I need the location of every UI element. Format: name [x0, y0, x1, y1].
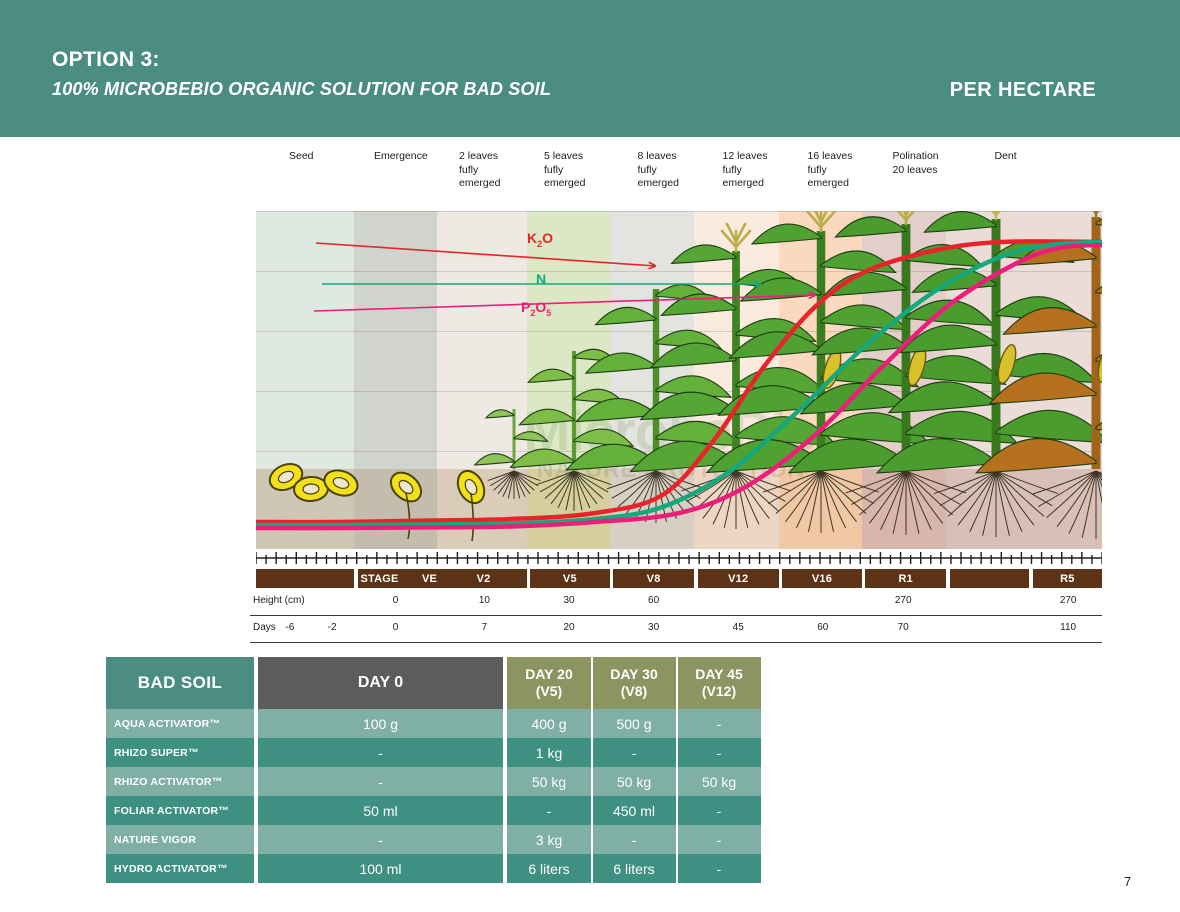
cell-day30: 500 g	[592, 709, 676, 738]
days-value: 45	[724, 622, 752, 633]
height-value: 270	[1054, 595, 1082, 606]
height-value: 270	[889, 595, 917, 606]
stage-cell-empty	[256, 569, 354, 588]
cell-day45: -	[677, 738, 761, 767]
cell-day20: 6 liters	[507, 854, 591, 883]
days-value: 7	[470, 622, 498, 633]
nutrient-curves	[256, 211, 1102, 549]
cell-day20: 1 kg	[507, 738, 591, 767]
page-title: OPTION 3:	[52, 48, 160, 72]
height-row-label: Height (cm)	[253, 595, 305, 606]
days-value: -2	[318, 622, 346, 633]
stage-captions: SeedEmergence2 leavesfuflyemerged5 leave…	[255, 150, 1105, 205]
product-name: RHIZO SUPER™	[106, 738, 254, 767]
cell-day0: 50 ml	[258, 796, 503, 825]
cell-day45: -	[677, 854, 761, 883]
cell-day20: 3 kg	[507, 825, 591, 854]
cell-day45: -	[677, 796, 761, 825]
col-title: DAY 45	[695, 666, 742, 683]
cell-day30: 450 ml	[592, 796, 676, 825]
days-value: 70	[889, 622, 917, 633]
height-days-block: Height (cm) 0103060270270 Days -6-207203…	[250, 589, 1102, 643]
annotation-arrow	[314, 295, 816, 311]
cell-day30: -	[592, 738, 676, 767]
column-header-day20: DAY 20(V5)	[507, 657, 591, 709]
per-hectare-label: PER HECTARE	[950, 79, 1096, 102]
cell-day45: 50 kg	[677, 767, 761, 796]
column-header-day30: DAY 30(V8)	[592, 657, 676, 709]
days-value: 0	[382, 622, 410, 633]
product-name: AQUA ACTIVATOR™	[106, 709, 254, 738]
cell-day30: 6 liters	[592, 854, 676, 883]
stage-cell-v8: V8	[613, 569, 694, 588]
cell-day20: 50 kg	[507, 767, 591, 796]
days-value: 110	[1054, 622, 1082, 633]
cell-day20: -	[507, 796, 591, 825]
stage-cell-r1: R1	[865, 569, 946, 588]
product-name: NATURE VIGOR	[106, 825, 254, 854]
column-divider	[591, 657, 593, 883]
cell-day0: -	[258, 825, 503, 854]
cell-day45: -	[677, 709, 761, 738]
cell-day20: 400 g	[507, 709, 591, 738]
height-value: 10	[470, 595, 498, 606]
table-corner-label: BAD SOIL	[106, 657, 254, 709]
cell-day0: 100 g	[258, 709, 503, 738]
column-header-day45: DAY 45(V12)	[677, 657, 761, 709]
days-value: -6	[276, 622, 304, 633]
stage-cell-v12: V12	[698, 569, 779, 588]
height-value: 0	[382, 595, 410, 606]
nutrient-uptake-chart: MicrobeBio NATURE PROTECTION K2O N P2O5	[256, 211, 1102, 549]
col-subtitle: (V12)	[702, 683, 736, 700]
stage-caption: 2 leavesfuflyemerged	[459, 150, 500, 191]
col-subtitle: (V5)	[536, 683, 562, 700]
height-value: 60	[640, 595, 668, 606]
curve-p2o5	[256, 245, 1102, 528]
stage-cell-empty	[950, 569, 1030, 588]
page-subtitle: 100% MICROBEBIO ORGANIC SOLUTION FOR BAD…	[52, 79, 551, 100]
cell-day0: -	[258, 767, 503, 796]
annotation-arrow	[316, 243, 656, 266]
stage-caption: Seed	[289, 150, 314, 164]
days-value: 20	[555, 622, 583, 633]
stage-caption: 16 leavesfuflyemerged	[808, 150, 853, 191]
timeline-ruler	[256, 551, 1102, 566]
curve-label-k2o: K2O	[527, 230, 553, 249]
product-name: HYDRO ACTIVATOR™	[106, 854, 254, 883]
cell-day30: -	[592, 825, 676, 854]
stage-cell-v16: V16	[782, 569, 862, 588]
stage-caption: 5 leavesfuflyemerged	[544, 150, 585, 191]
curve-label-p2o5: P2O5	[521, 299, 551, 318]
height-row: Height (cm) 0103060270270	[250, 589, 1102, 616]
stage-caption: Polination20 leaves	[893, 150, 939, 177]
stage-caption: 12 leavesfuflyemerged	[723, 150, 768, 191]
cell-day0: 100 ml	[258, 854, 503, 883]
stage-cell-r5: R5	[1033, 569, 1102, 588]
stage-cell-v2: V2	[440, 569, 526, 588]
column-header-day0: DAY 0	[258, 657, 503, 709]
col-title: DAY 20	[525, 666, 572, 683]
product-name: RHIZO ACTIVATOR™	[106, 767, 254, 796]
col-subtitle: (V8)	[621, 683, 647, 700]
stage-row-label: STAGE	[358, 569, 441, 588]
page-number: 7	[1124, 874, 1131, 889]
stage-caption: Emergence	[374, 150, 428, 164]
header-banner: OPTION 3: 100% MICROBEBIO ORGANIC SOLUTI…	[0, 0, 1180, 137]
cell-day30: 50 kg	[592, 767, 676, 796]
height-value: 30	[555, 595, 583, 606]
curve-label-n: N	[536, 271, 546, 287]
stage-caption: Dent	[995, 150, 1017, 164]
stage-bar: VEV2V5V8V12V16R1R5STAGE	[256, 569, 1102, 588]
col-title: DAY 30	[610, 666, 657, 683]
days-row: Days -6-2072030456070110	[250, 616, 1102, 643]
days-value: 30	[640, 622, 668, 633]
stage-cell-v5: V5	[530, 569, 610, 588]
days-value: 60	[809, 622, 837, 633]
stage-caption: 8 leavesfuflyemerged	[638, 150, 679, 191]
cell-day0: -	[258, 738, 503, 767]
cell-day45: -	[677, 825, 761, 854]
days-row-label: Days	[253, 622, 276, 633]
product-name: FOLIAR ACTIVATOR™	[106, 796, 254, 825]
column-divider	[676, 657, 678, 883]
